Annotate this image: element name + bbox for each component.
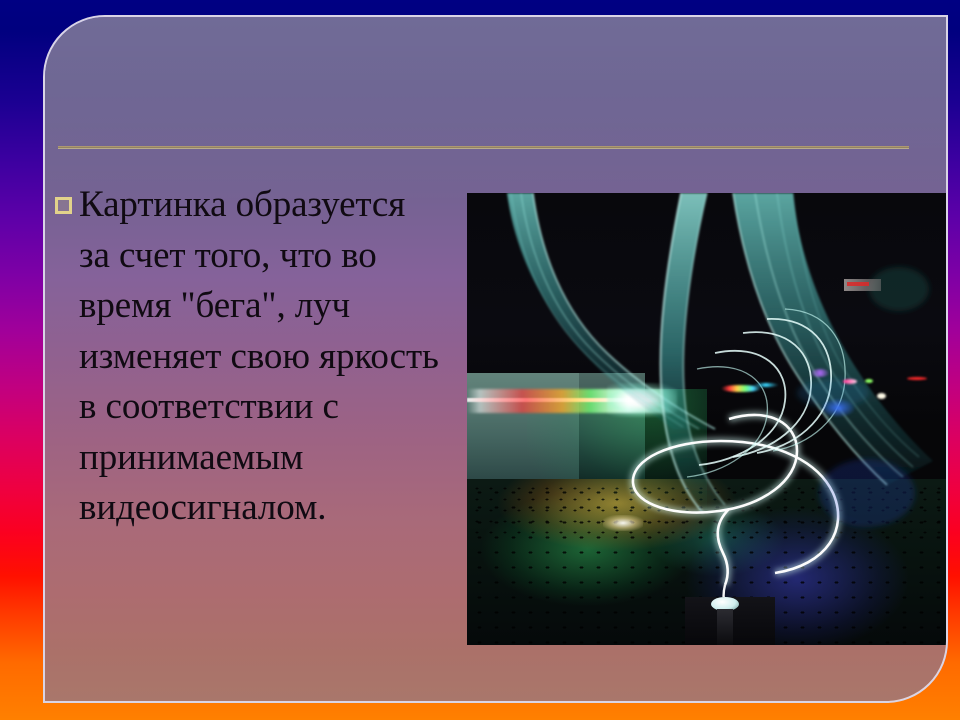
photo-led-red: [907, 377, 927, 380]
slide-photograph: [467, 193, 946, 645]
list-item: Картинка образуется за счет того, что во…: [55, 180, 440, 534]
photo-led-violet: [811, 369, 829, 377]
photo-led-magenta: [843, 379, 857, 384]
photo-light-sheet-right: [733, 193, 933, 485]
title-divider: [58, 146, 909, 149]
slide-canvas: Картинка образуется за счет того, что во…: [0, 0, 960, 720]
photo-equipment-label-stripe: [847, 282, 869, 286]
content-panel: Картинка образуется за счет того, что во…: [45, 17, 946, 701]
body-paragraph: Картинка образуется за счет того, что во…: [79, 180, 440, 534]
photo-light-painting-curves: [467, 193, 946, 645]
photo-led-white: [877, 393, 886, 399]
photo-optic-post: [717, 609, 733, 645]
photo-led-green: [865, 379, 873, 383]
body-text-block: Картинка образуется за счет того, что во…: [55, 180, 440, 534]
photo-led-spectral-small: [721, 385, 761, 392]
hollow-square-bullet-icon: [55, 197, 72, 214]
photo-led-blue-cluster: [821, 399, 855, 417]
